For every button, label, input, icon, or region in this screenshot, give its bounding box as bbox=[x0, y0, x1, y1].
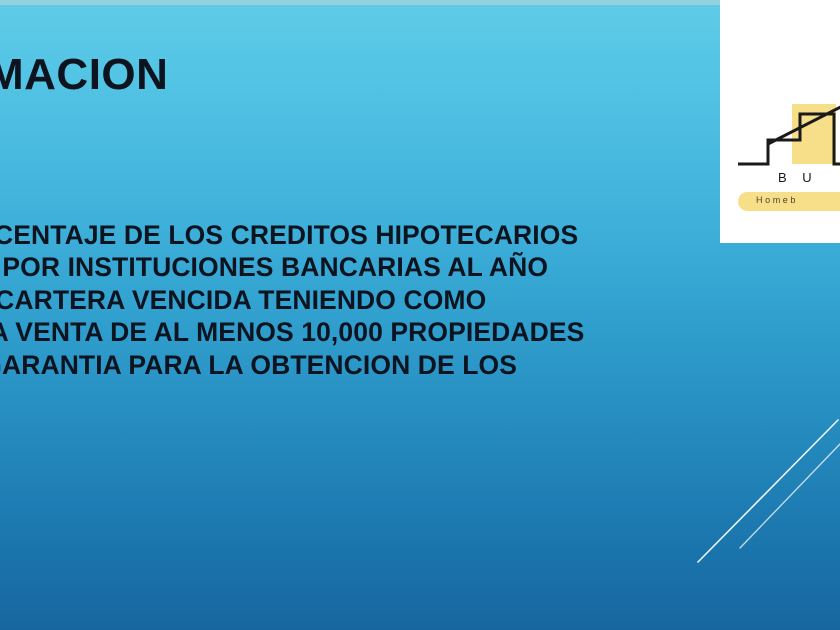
body-line: DITOS. bbox=[0, 381, 698, 413]
body-line: INAN EN CARTERA VENCIDA TENIENDO COMO bbox=[0, 284, 698, 316]
logo-tagline: Homeb bbox=[756, 195, 798, 205]
logo-container: B U Homeb bbox=[734, 88, 840, 218]
building-stairs-logo-icon bbox=[734, 88, 840, 170]
slide-top-strip bbox=[0, 0, 840, 5]
body-line: LTADO LA VENTA DE AL MENOS 10,000 PROPIE… bbox=[0, 316, 698, 348]
slide-title: ORMACION bbox=[0, 52, 620, 98]
decorative-diagonal-streaks bbox=[680, 410, 840, 590]
body-line: RGADOS POR INSTITUCIONES BANCARIAS AL AÑ… bbox=[0, 251, 698, 283]
presentation-slide: ORMACION LTO PORCENTAJE DE LOS CREDITOS … bbox=[0, 0, 840, 630]
logo-card: B U Homeb bbox=[720, 0, 840, 243]
body-line: LTO PORCENTAJE DE LOS CREDITOS HIPOTECAR… bbox=[0, 219, 698, 251]
logo-wordmark: B U bbox=[778, 170, 818, 185]
slide-body-text: LTO PORCENTAJE DE LOS CREDITOS HIPOTECAR… bbox=[0, 219, 698, 413]
body-line: TAS EN GARANTIA PARA LA OBTENCION DE LOS bbox=[0, 349, 698, 381]
